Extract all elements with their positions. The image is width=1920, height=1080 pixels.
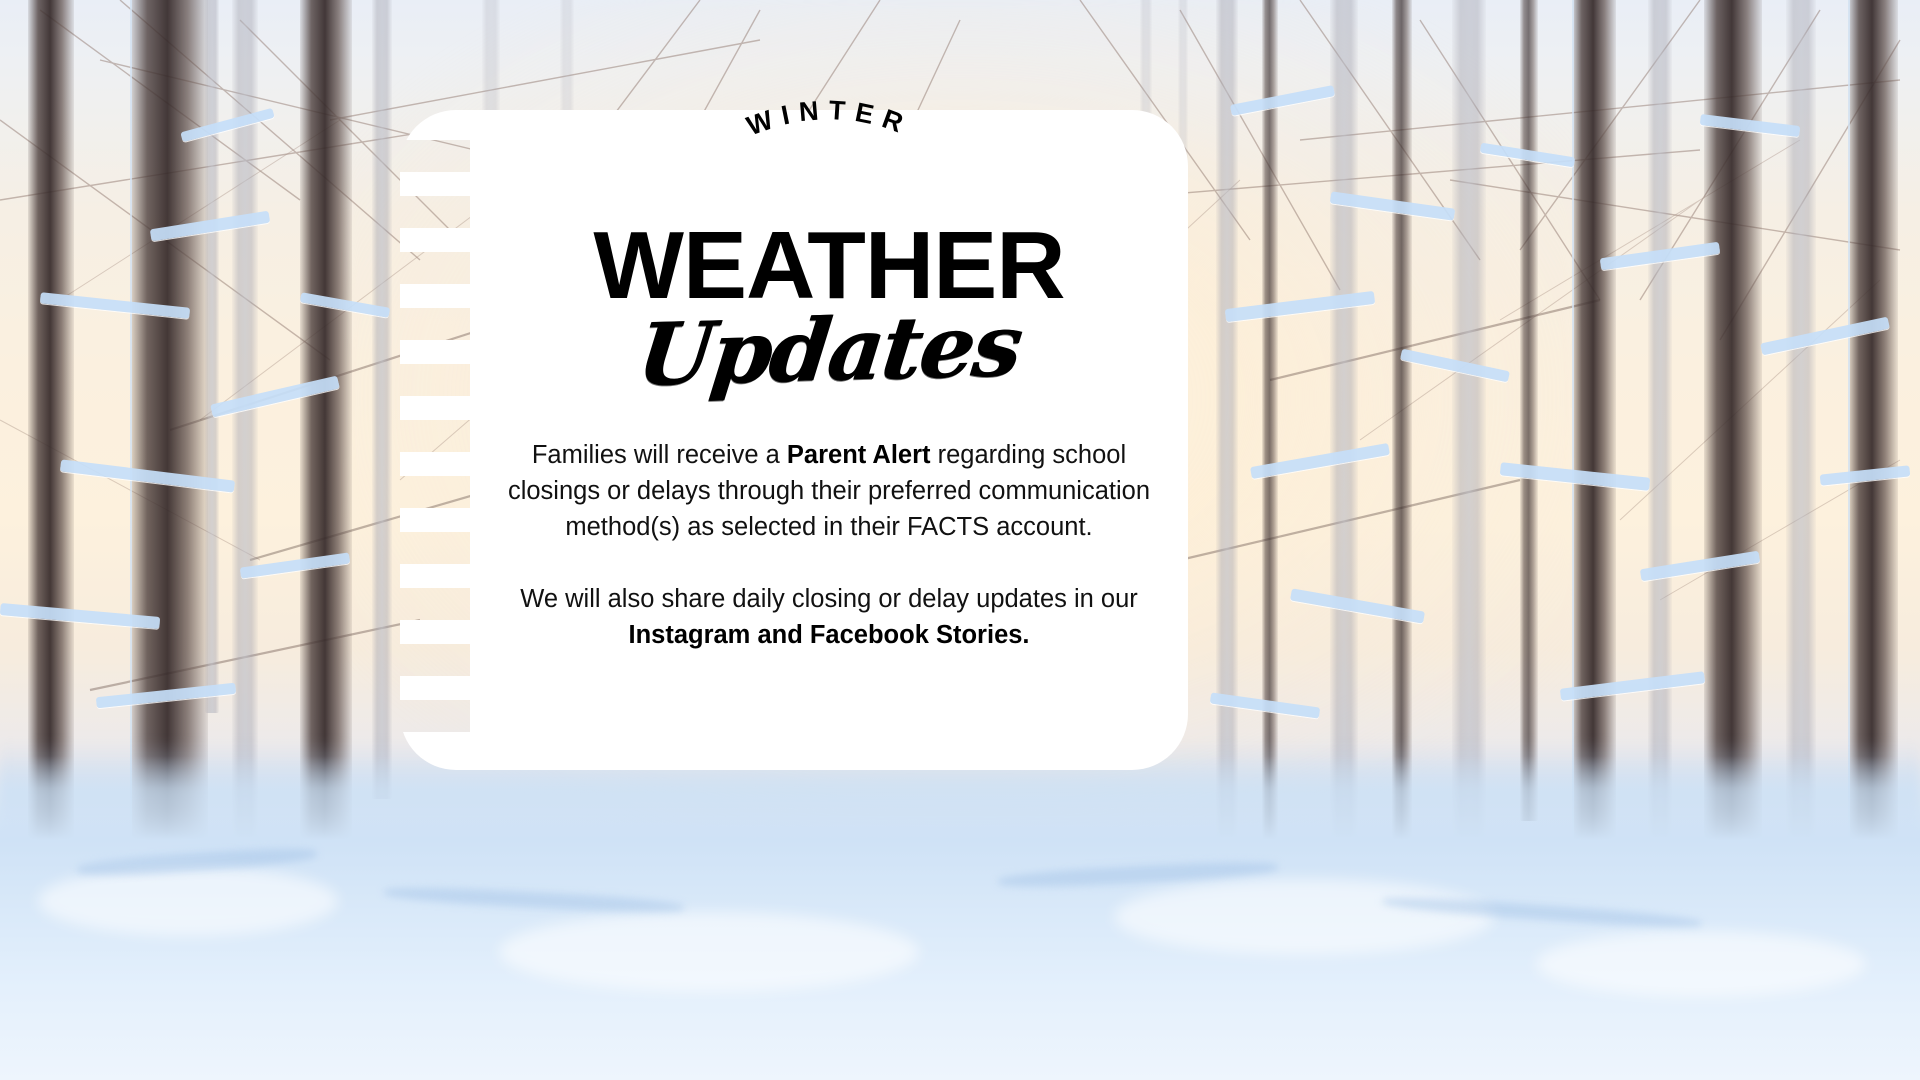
p2-bold-social: Instagram and Facebook Stories. xyxy=(628,621,1029,649)
card-content: WINTER WEATHER Updates Families will rec… xyxy=(470,110,1188,770)
p1-bold-parent-alert: Parent Alert xyxy=(787,441,931,469)
paragraph-social-stories: We will also share daily closing or dela… xyxy=(504,582,1154,654)
p2-before-bold: We will also share daily closing or dela… xyxy=(520,585,1138,613)
script-subtitle: Updates xyxy=(634,303,1025,399)
eyebrow-arched-text: WINTER xyxy=(659,134,999,220)
poster-canvas: WINTER WEATHER Updates Families will rec… xyxy=(0,0,1920,1080)
paragraph-spacer xyxy=(504,546,1154,582)
p1-before-bold: Families will receive a xyxy=(532,441,787,469)
paragraph-parent-alert: Families will receive a Parent Alert reg… xyxy=(504,438,1154,546)
body-copy: Families will receive a Parent Alert reg… xyxy=(504,438,1154,654)
